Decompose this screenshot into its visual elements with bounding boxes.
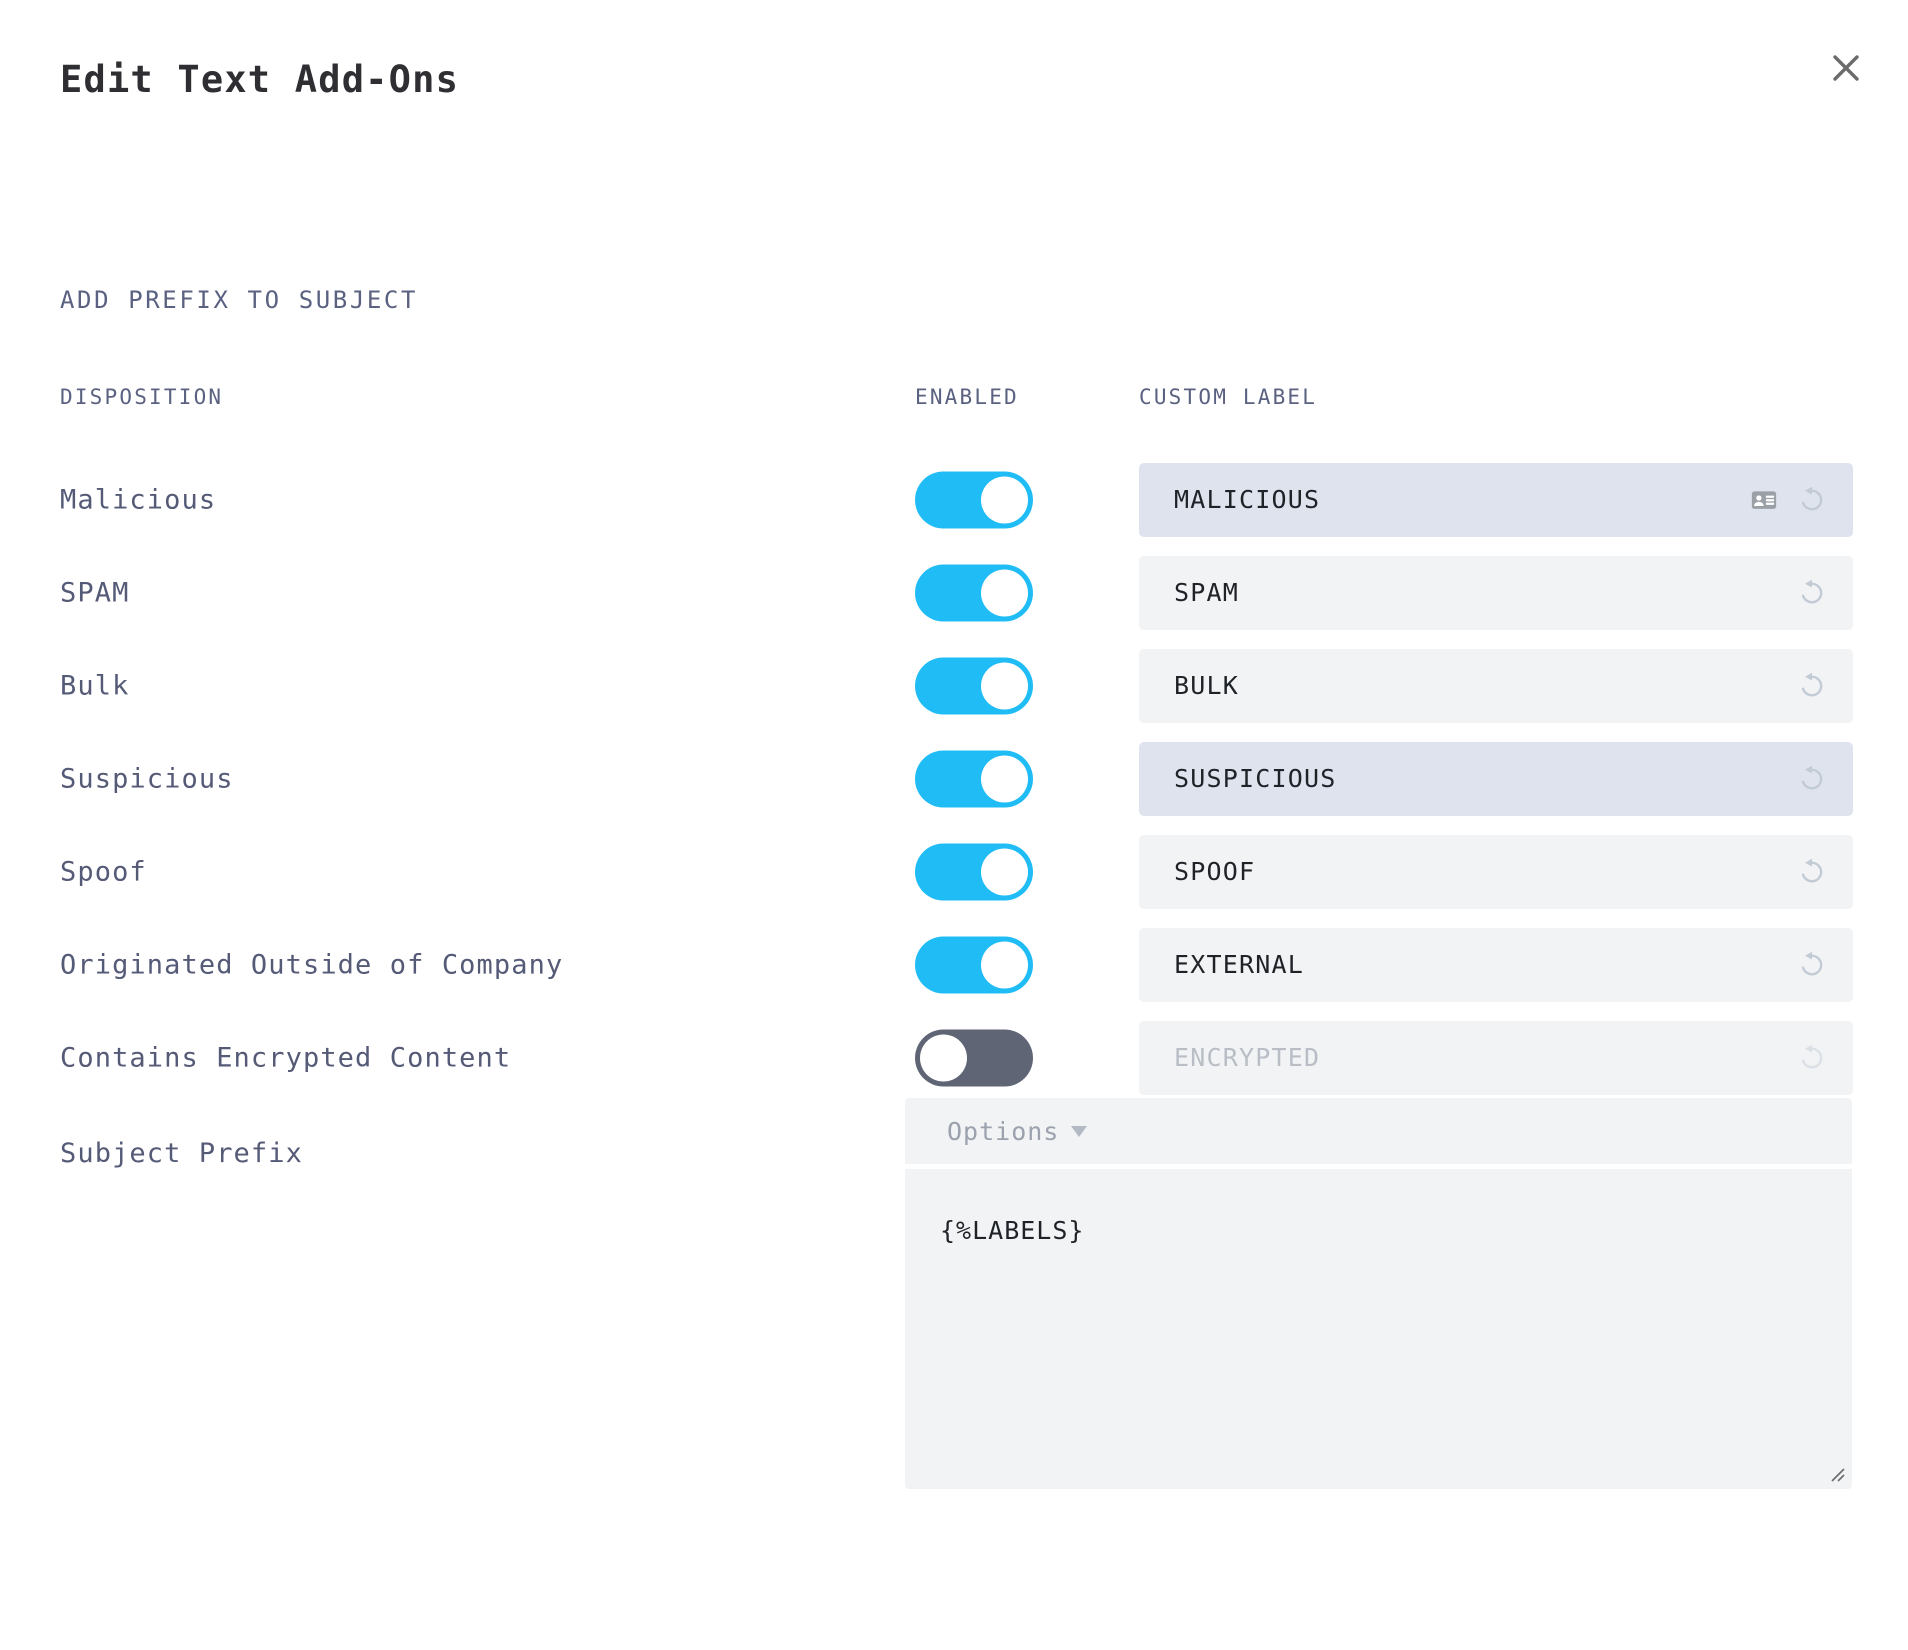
- toggle-knob: [981, 662, 1028, 709]
- enabled-toggle[interactable]: [915, 657, 1033, 714]
- disposition-label: Bulk: [60, 670, 129, 701]
- dialog-header: Edit Text Add-Ons: [0, 0, 1908, 150]
- column-header-custom-label: CUSTOM LABEL: [1139, 385, 1317, 409]
- table-row: MaliciousMALICIOUS: [0, 453, 1908, 546]
- table-row: BulkBULK: [0, 639, 1908, 732]
- table-body: MaliciousMALICIOUSSPAMSPAMBulkBULKSuspic…: [0, 453, 1908, 1104]
- options-dropdown[interactable]: Options: [947, 1117, 1087, 1146]
- custom-label-input[interactable]: SPAM: [1139, 556, 1853, 630]
- toggle-knob: [981, 476, 1028, 523]
- resize-handle-icon[interactable]: [1826, 1463, 1846, 1483]
- disposition-label: Originated Outside of Company: [60, 949, 563, 980]
- custom-label-input[interactable]: SPOOF: [1139, 835, 1853, 909]
- subject-prefix-editor: Options {%LABELS}: [905, 1098, 1852, 1489]
- table-row: Contains Encrypted ContentENCRYPTED: [0, 1011, 1908, 1104]
- custom-label-input[interactable]: BULK: [1139, 649, 1853, 723]
- reset-icon[interactable]: [1795, 483, 1829, 517]
- table-row: Originated Outside of CompanyEXTERNAL: [0, 918, 1908, 1011]
- custom-label-value: SUSPICIOUS: [1174, 764, 1795, 793]
- options-dropdown-label: Options: [947, 1117, 1059, 1146]
- custom-label-icons: [1795, 576, 1829, 610]
- contact-card-icon[interactable]: [1747, 483, 1781, 517]
- custom-label-icons: [1795, 669, 1829, 703]
- column-header-enabled: ENABLED: [915, 385, 1019, 409]
- table-row: SpoofSPOOF: [0, 825, 1908, 918]
- custom-label-value: SPAM: [1174, 578, 1795, 607]
- custom-label-icons: [1795, 855, 1829, 889]
- close-button[interactable]: [1818, 40, 1874, 96]
- custom-label-value: EXTERNAL: [1174, 950, 1795, 979]
- disposition-label: Malicious: [60, 484, 216, 515]
- custom-label-value: BULK: [1174, 671, 1795, 700]
- disposition-label: Contains Encrypted Content: [60, 1042, 511, 1073]
- custom-label-icons: [1795, 948, 1829, 982]
- custom-label-value: MALICIOUS: [1174, 485, 1747, 514]
- toggle-knob: [981, 755, 1028, 802]
- custom-label-icons: [1795, 762, 1829, 796]
- subject-prefix-label: Subject Prefix: [60, 1138, 303, 1169]
- reset-icon[interactable]: [1795, 855, 1829, 889]
- chevron-down-icon: [1071, 1126, 1087, 1137]
- subject-prefix-textarea-value: {%LABELS}: [940, 1216, 1084, 1245]
- enabled-toggle[interactable]: [915, 750, 1033, 807]
- toggle-knob: [981, 848, 1028, 895]
- disposition-label: Spoof: [60, 856, 147, 887]
- subject-prefix-textarea[interactable]: {%LABELS}: [905, 1169, 1852, 1489]
- toggle-knob: [981, 569, 1028, 616]
- enabled-toggle[interactable]: [915, 843, 1033, 900]
- section-label-add-prefix-to-subject: ADD PREFIX TO SUBJECT: [60, 286, 418, 314]
- custom-label-icons: [1795, 1041, 1829, 1075]
- custom-label-input[interactable]: SUSPICIOUS: [1139, 742, 1853, 816]
- toggle-knob: [981, 941, 1028, 988]
- custom-label-icons: [1747, 483, 1829, 517]
- custom-label-input: ENCRYPTED: [1139, 1021, 1853, 1095]
- page-title: Edit Text Add-Ons: [60, 58, 459, 101]
- toggle-knob: [920, 1034, 967, 1081]
- reset-icon[interactable]: [1795, 762, 1829, 796]
- enabled-toggle[interactable]: [915, 564, 1033, 621]
- enabled-toggle[interactable]: [915, 1029, 1033, 1086]
- reset-icon[interactable]: [1795, 576, 1829, 610]
- custom-label-value: SPOOF: [1174, 857, 1795, 886]
- disposition-label: Suspicious: [60, 763, 234, 794]
- editor-toolbar: Options: [905, 1098, 1852, 1164]
- table-row: SuspiciousSUSPICIOUS: [0, 732, 1908, 825]
- table-row: SPAMSPAM: [0, 546, 1908, 639]
- custom-label-input[interactable]: EXTERNAL: [1139, 928, 1853, 1002]
- custom-label-value: ENCRYPTED: [1174, 1043, 1795, 1072]
- column-header-disposition: DISPOSITION: [60, 385, 223, 409]
- reset-icon[interactable]: [1795, 948, 1829, 982]
- reset-icon[interactable]: [1795, 669, 1829, 703]
- enabled-toggle[interactable]: [915, 936, 1033, 993]
- close-icon: [1830, 52, 1862, 84]
- reset-icon: [1795, 1041, 1829, 1075]
- custom-label-input[interactable]: MALICIOUS: [1139, 463, 1853, 537]
- disposition-label: SPAM: [60, 577, 129, 608]
- enabled-toggle[interactable]: [915, 471, 1033, 528]
